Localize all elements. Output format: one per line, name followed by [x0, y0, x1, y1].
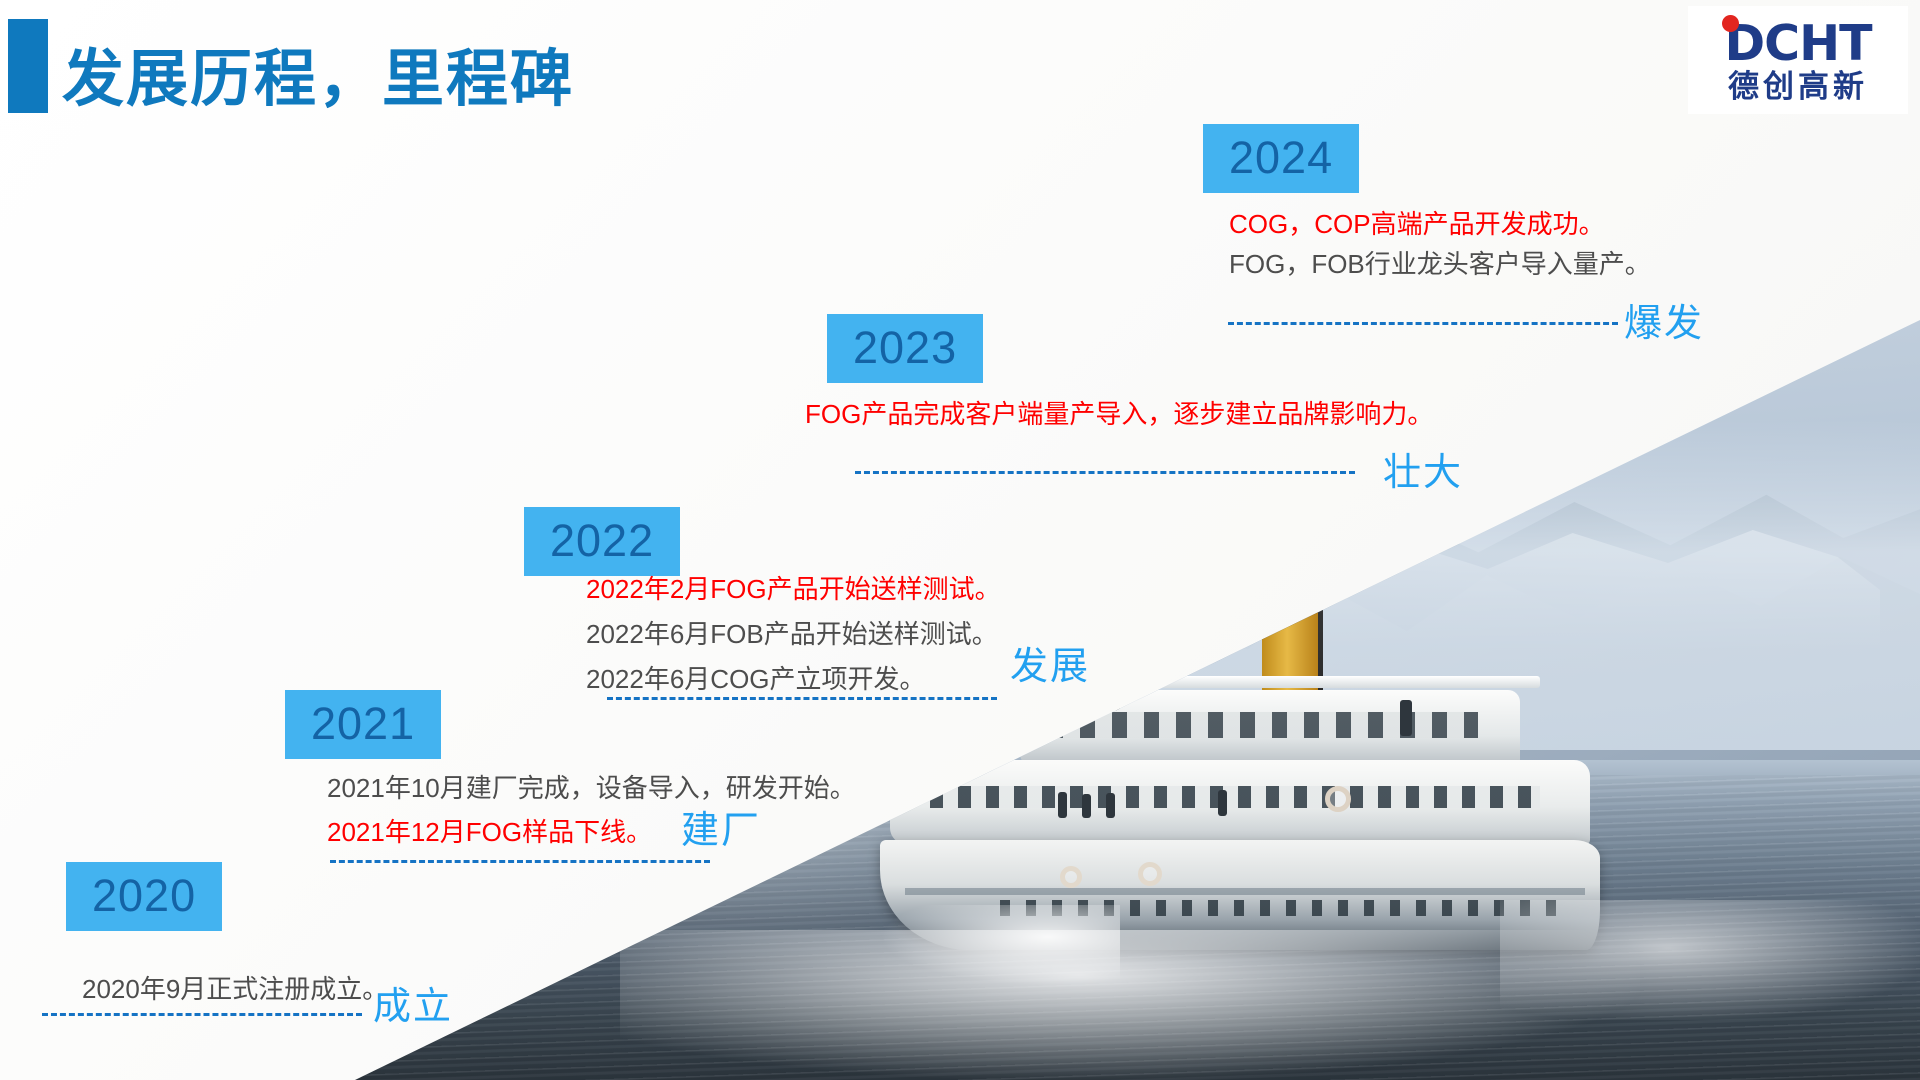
connector-dashed-line	[42, 1013, 362, 1016]
photo-flag-cross	[962, 672, 980, 728]
phase-label: 建厂	[681, 812, 761, 850]
photo-passenger	[1400, 700, 1412, 736]
photo-ship-mast	[1318, 392, 1323, 692]
phase-label: 成立	[373, 988, 453, 1026]
slide-canvas: 发展历程，里程碑 DCHT 德创高新 2024 COG，COP高端产品开发成功。…	[0, 0, 1920, 1080]
milestone-text: 2022年6月COG产立项开发。	[586, 663, 926, 696]
photo-passenger	[1058, 792, 1067, 818]
title-accent-bar	[8, 19, 48, 113]
year-badge-2021[interactable]: 2021	[285, 690, 441, 759]
phase-label: 发展	[1010, 648, 1090, 686]
page-title: 发展历程，里程碑	[62, 28, 574, 118]
milestone-text: 2022年6月FOB产品开始送样测试。	[586, 618, 998, 651]
milestone-text: COG，COP高端产品开发成功。	[1229, 208, 1605, 241]
logo-chinese-name: 德创高新	[1728, 71, 1868, 102]
photo-passenger	[1082, 794, 1091, 818]
photo-life-ring	[1325, 786, 1351, 812]
photo-passenger	[1218, 790, 1227, 816]
photo-passenger	[1106, 793, 1115, 818]
photo-ship-hull-stripe	[905, 888, 1585, 895]
photo-life-ring	[1060, 866, 1082, 888]
phase-label: 爆发	[1624, 305, 1704, 343]
year-badge-2024[interactable]: 2024	[1203, 124, 1359, 193]
year-badge-2022[interactable]: 2022	[524, 507, 680, 576]
milestone-text: 2022年2月FOG产品开始送样测试。	[586, 573, 1001, 606]
year-badge-2023[interactable]: 2023	[827, 314, 983, 383]
milestone-text: 2021年10月建厂完成，设备导入，研发开始。	[327, 772, 856, 805]
connector-dashed-line	[607, 697, 997, 700]
photo-ship-main-windows	[930, 786, 1540, 808]
milestone-text: FOG产品完成客户端量产导入，逐步建立品牌影响力。	[805, 398, 1433, 431]
logo-wordmark: DCHT	[1724, 19, 1871, 68]
milestone-text: 2021年12月FOG样品下线。	[327, 816, 652, 849]
background-photo	[0, 0, 1920, 1080]
phase-label: 壮大	[1383, 454, 1463, 492]
photo-wake-foam	[620, 930, 1640, 1080]
milestone-text: FOG，FOB行业龙头客户导入量产。	[1229, 248, 1651, 281]
logo-red-dot-icon	[1722, 15, 1739, 32]
photo-flag-cross	[943, 691, 999, 709]
connector-dashed-line	[1228, 322, 1618, 325]
connector-dashed-line	[855, 471, 1355, 474]
photo-ship-upper-windows	[1048, 712, 1478, 738]
photo-wake-foam	[1500, 900, 1920, 1020]
year-badge-2020[interactable]: 2020	[66, 862, 222, 931]
logo-mark-text: DCHT	[1724, 15, 1871, 72]
photo-life-ring	[1138, 862, 1162, 886]
company-logo: DCHT 德创高新	[1688, 6, 1908, 114]
milestone-text: 2020年9月正式注册成立。	[82, 973, 388, 1006]
connector-dashed-line	[330, 860, 710, 863]
